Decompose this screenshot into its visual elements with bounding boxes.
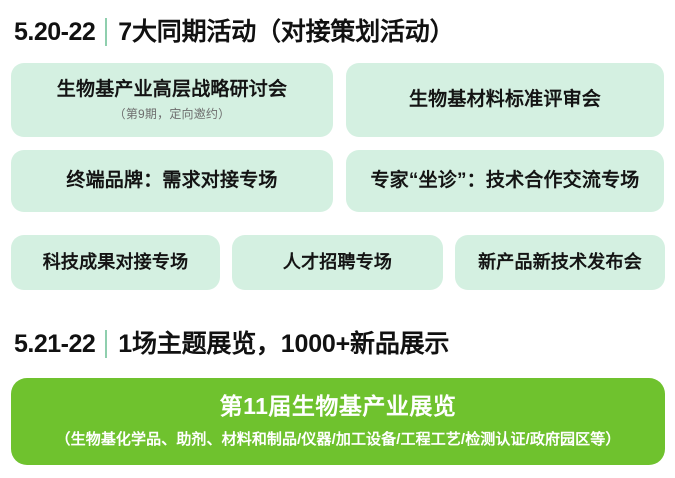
activity-card[interactable]: 生物基材料标准评审会 <box>346 63 664 137</box>
activity-card-title: 生物基材料标准评审会 <box>409 88 601 112</box>
activity-card-title: 科技成果对接专场 <box>43 251 189 274</box>
poster-page: 5.20-22 7大同期活动（对接策划活动） 生物基产业高层战略研讨会 （第9期… <box>0 0 675 478</box>
activities-date-label: 5.20-22 <box>14 20 95 45</box>
activity-card-title: 终端品牌：需求对接专场 <box>66 169 277 193</box>
exhibition-section-heading: 5.21-22 1场主题展览，1000+新品展示 <box>14 330 449 358</box>
activity-card[interactable]: 科技成果对接专场 <box>11 235 220 290</box>
exhibition-date-label: 5.21-22 <box>14 332 95 357</box>
activity-card-title: 新产品新技术发布会 <box>478 251 642 274</box>
activity-card[interactable]: 专家“坐诊”：技术合作交流专场 <box>346 150 664 212</box>
activities-title-label: 7大同期活动（对接策划活动） <box>118 20 454 45</box>
activities-section-heading: 5.20-22 7大同期活动（对接策划活动） <box>14 18 454 46</box>
activity-card[interactable]: 生物基产业高层战略研讨会 （第9期，定向邀约） <box>11 63 333 137</box>
exhibition-banner[interactable]: 第11届生物基产业展览 （生物基化学品、助剂、材料和制品/仪器/加工设备/工程工… <box>11 378 665 465</box>
activity-card-row: 科技成果对接专场 人才招聘专场 新产品新技术发布会 <box>11 235 665 290</box>
heading-divider-rule <box>105 18 107 46</box>
activity-card-row: 终端品牌：需求对接专场 专家“坐诊”：技术合作交流专场 <box>11 150 664 212</box>
heading-divider-rule <box>105 330 107 358</box>
exhibition-banner-subtitle: （生物基化学品、助剂、材料和制品/仪器/加工设备/工程工艺/检测认证/政府园区等… <box>56 432 621 449</box>
activity-card-title: 人才招聘专场 <box>283 251 392 274</box>
activity-card-title: 生物基产业高层战略研讨会 <box>57 78 287 102</box>
activity-card[interactable]: 人才招聘专场 <box>232 235 443 290</box>
activity-card-title: 专家“坐诊”：技术合作交流专场 <box>370 169 639 193</box>
activity-card-subtitle: （第9期，定向邀约） <box>114 107 231 123</box>
activity-card-row: 生物基产业高层战略研讨会 （第9期，定向邀约） 生物基材料标准评审会 <box>11 63 664 137</box>
exhibition-title-label: 1场主题展览，1000+新品展示 <box>118 332 449 357</box>
activity-card[interactable]: 终端品牌：需求对接专场 <box>11 150 333 212</box>
exhibition-banner-title: 第11届生物基产业展览 <box>220 394 457 419</box>
activity-card[interactable]: 新产品新技术发布会 <box>455 235 665 290</box>
